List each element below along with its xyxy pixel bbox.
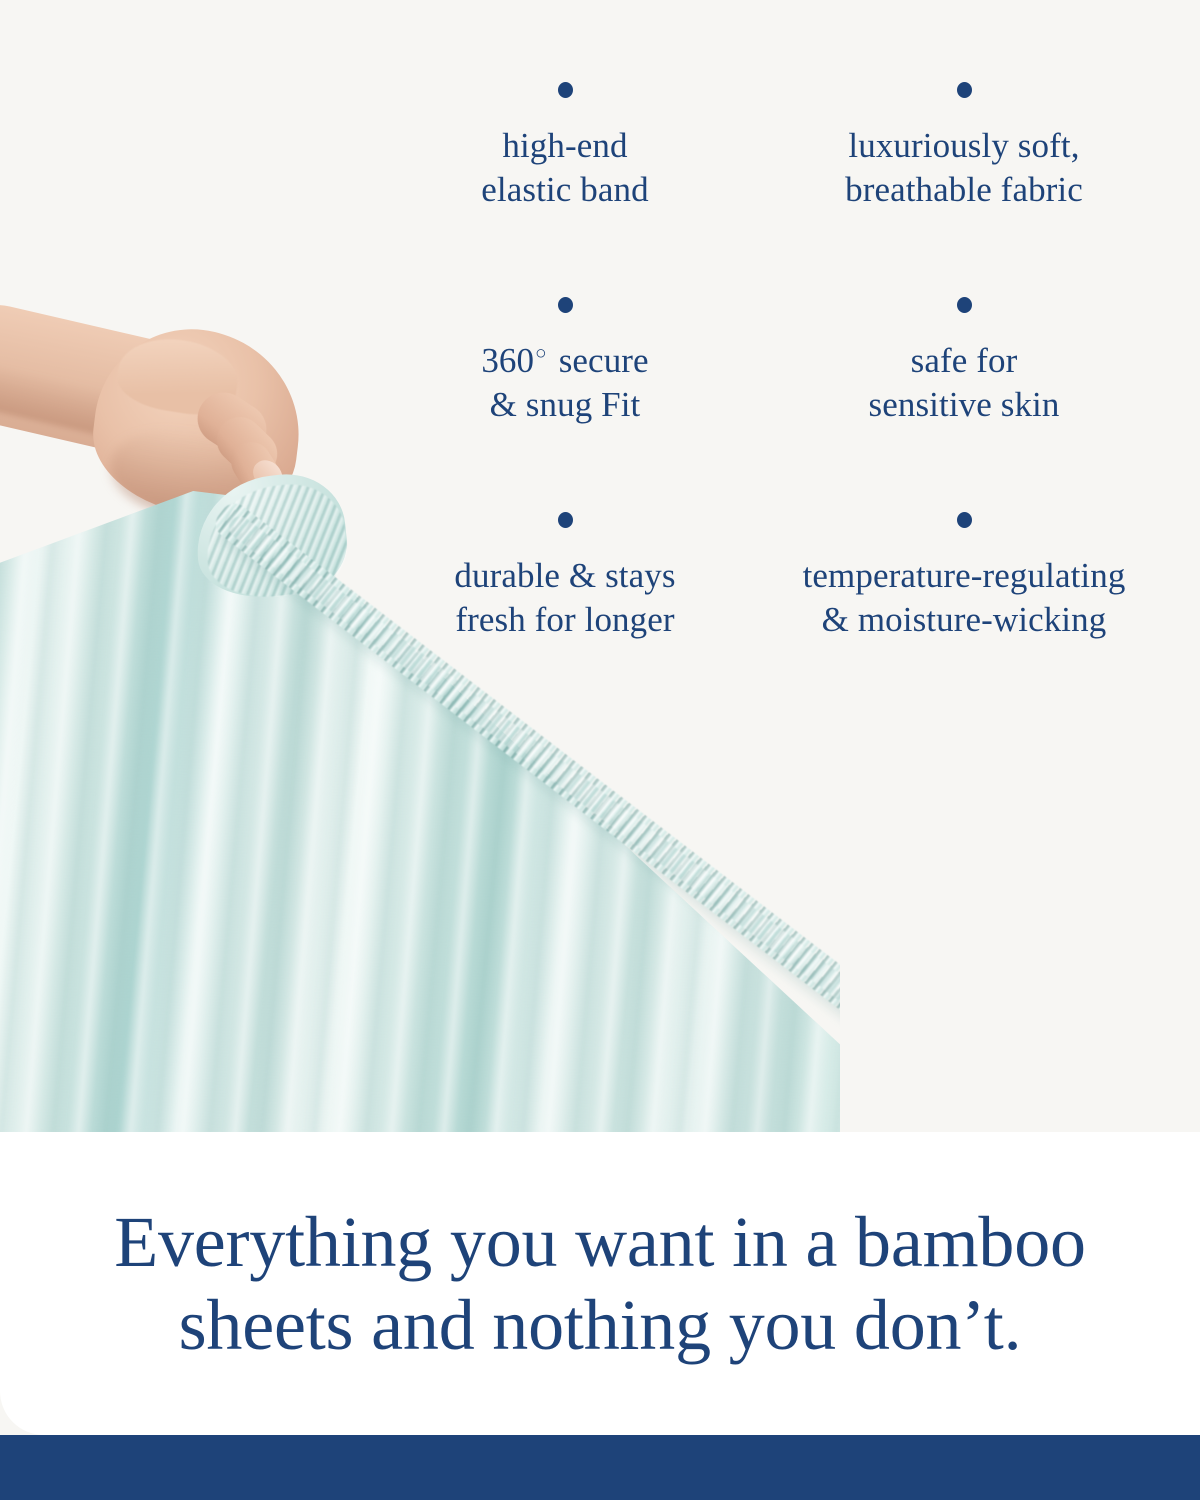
feature-label: high-end elastic band <box>481 124 648 213</box>
feature-line-2: sensitive skin <box>869 385 1060 424</box>
feature-line-2: & snug Fit <box>490 385 641 424</box>
feature-item-sensitive-skin: safe for sensitive skin <box>764 297 1164 512</box>
feature-line-2: breathable fabric <box>845 170 1083 209</box>
headline-card: Everything you want in a bamboo sheets a… <box>0 1132 1200 1435</box>
bullet-dot-icon <box>558 512 573 528</box>
feature-label: temperature-regulating & moisture-wickin… <box>803 554 1126 643</box>
feature-label: safe for sensitive skin <box>869 339 1060 428</box>
headline-line-2: sheets and nothing you don’t. <box>179 1285 1022 1365</box>
feature-label: 360○secure & snug Fit <box>481 339 648 428</box>
feature-item-breathable-fabric: luxuriously soft, breathable fabric <box>764 82 1164 297</box>
bullet-dot-icon <box>957 297 972 313</box>
headline-line-1: Everything you want in a bamboo <box>114 1202 1086 1282</box>
headline-text: Everything you want in a bamboo sheets a… <box>96 1201 1104 1365</box>
feature-list: high-end elastic band luxuriously soft, … <box>380 82 1180 682</box>
bullet-dot-icon <box>957 82 972 98</box>
feature-line-1: high-end <box>502 126 627 165</box>
feature-line-1: luxuriously soft, <box>848 126 1079 165</box>
feature-line-1-suffix: secure <box>559 341 649 380</box>
feature-item-elastic-band: high-end elastic band <box>380 82 750 297</box>
feature-value-360: 360 <box>481 341 534 380</box>
degree-symbol-icon: ○ <box>535 343 547 364</box>
feature-item-temperature-regulating: temperature-regulating & moisture-wickin… <box>764 512 1164 682</box>
feature-line-2: & moisture-wicking <box>822 600 1107 639</box>
feature-line-1: durable & stays <box>454 556 675 595</box>
feature-item-snug-fit: 360○secure & snug Fit <box>380 297 750 512</box>
bullet-dot-icon <box>558 82 573 98</box>
bottom-accent-band <box>0 1435 1200 1500</box>
feature-line-2: elastic band <box>481 170 648 209</box>
bullet-dot-icon <box>957 512 972 528</box>
feature-line-1: safe for <box>911 341 1018 380</box>
feature-line-2: fresh for longer <box>455 600 674 639</box>
bullet-dot-icon <box>558 297 573 313</box>
feature-line-1: temperature-regulating <box>803 556 1126 595</box>
feature-label: luxuriously soft, breathable fabric <box>845 124 1083 213</box>
feature-item-durable: durable & stays fresh for longer <box>380 512 750 682</box>
feature-label: durable & stays fresh for longer <box>454 554 675 643</box>
